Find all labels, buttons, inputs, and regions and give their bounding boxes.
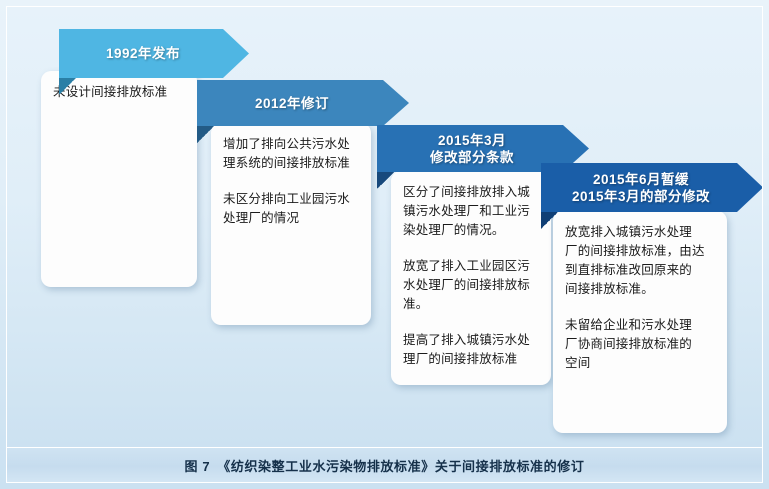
panel-2015-03-body: 区分了间接排放排入城 镇污水处理厂和工业污 染处理厂的情况。 放宽了排入工业园区… bbox=[403, 183, 539, 369]
banner-wrap-1992: 1992年发布 bbox=[59, 29, 249, 78]
panel-2012-paragraph-2: 未区分排向工业园污水 处理厂的情况 bbox=[223, 190, 359, 228]
figure-caption: 图 7 《纺织染整工业水污染物排放标准》关于间接排放标准的修订 bbox=[185, 456, 585, 475]
banner-label-2012: 2012年修订 bbox=[255, 95, 329, 112]
figure-inner: 未设计间接排放标准 1992年发布 增加了排向公共污水处 理系统的间接排放标准 … bbox=[6, 6, 763, 483]
panel-1992: 未设计间接排放标准 bbox=[41, 71, 197, 287]
banner-fold-1992 bbox=[59, 77, 77, 95]
figure-caption-band: 图 7 《纺织染整工业水污染物排放标准》关于间接排放标准的修订 bbox=[7, 447, 762, 482]
figure-frame: 未设计间接排放标准 1992年发布 增加了排向公共污水处 理系统的间接排放标准 … bbox=[0, 0, 769, 489]
panel-2012: 增加了排向公共污水处 理系统的间接排放标准 未区分排向工业园污水 处理厂的情况 bbox=[211, 123, 371, 325]
banner-2015-06[interactable]: 2015年6月暂缓 2015年3月的部分修改 bbox=[541, 163, 763, 212]
panel-2015-03: 区分了间接排放排入城 镇污水处理厂和工业污 染处理厂的情况。 放宽了排入工业园区… bbox=[391, 171, 551, 385]
panel-2015-06-body: 放宽排入城镇污水处理 厂的间接排放标准，由达 到直排标准改回原来的 间接排放标准… bbox=[565, 223, 715, 373]
panel-2012-body: 增加了排向公共污水处 理系统的间接排放标准 未区分排向工业园污水 处理厂的情况 bbox=[223, 135, 359, 228]
banner-wrap-2012: 2012年修订 bbox=[197, 80, 409, 126]
banner-label-1992: 1992年发布 bbox=[106, 45, 180, 62]
panel-2015-03-paragraph-1: 区分了间接排放排入城 镇污水处理厂和工业污 染处理厂的情况。 bbox=[403, 183, 539, 240]
banner-1992[interactable]: 1992年发布 bbox=[59, 29, 249, 78]
panel-2012-paragraph-1: 增加了排向公共污水处 理系统的间接排放标准 bbox=[223, 135, 359, 173]
timeline-stage: 未设计间接排放标准 1992年发布 增加了排向公共污水处 理系统的间接排放标准 … bbox=[7, 7, 763, 483]
panel-2015-03-paragraph-2: 放宽了排入工业园区污 水处理厂的间接排放标 准。 bbox=[403, 257, 539, 314]
panel-2015-03-paragraph-3: 提高了排入城镇污水处 理厂的间接排放标准 bbox=[403, 331, 539, 369]
banner-fold-2012 bbox=[197, 125, 215, 143]
banner-label-2015-06: 2015年6月暂缓 2015年3月的部分修改 bbox=[572, 171, 710, 205]
banner-wrap-2015-06: 2015年6月暂缓 2015年3月的部分修改 bbox=[541, 163, 763, 212]
banner-fold-2015-03 bbox=[377, 171, 395, 189]
banner-2012[interactable]: 2012年修订 bbox=[197, 80, 409, 126]
banner-fold-2015-06 bbox=[541, 211, 559, 229]
panel-2015-06: 放宽排入城镇污水处理 厂的间接排放标准，由达 到直排标准改回原来的 间接排放标准… bbox=[553, 211, 727, 433]
banner-label-2015-03: 2015年3月 修改部分条款 bbox=[430, 132, 514, 166]
panel-2015-06-paragraph-1: 放宽排入城镇污水处理 厂的间接排放标准，由达 到直排标准改回原来的 间接排放标准… bbox=[565, 223, 715, 299]
panel-2015-06-paragraph-2: 未留给企业和污水处理 厂协商间接排放标准的 空间 bbox=[565, 316, 715, 373]
